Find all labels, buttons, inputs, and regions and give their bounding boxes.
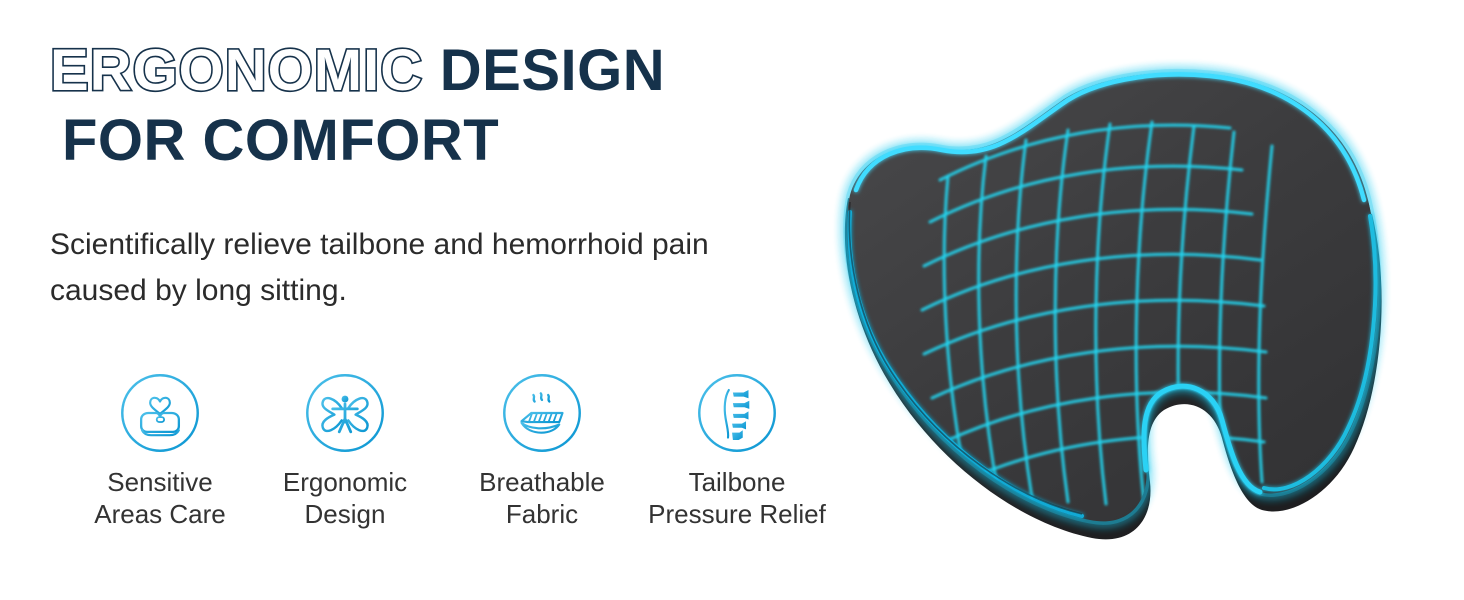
headline-line-1: ERGONOMIC DESIGN	[50, 36, 790, 106]
headline-outlined-word: ERGONOMIC	[50, 38, 423, 103]
ergonomic-person-butterfly-icon	[304, 372, 386, 454]
breathable-fabric-heat-icon	[501, 372, 583, 454]
spine-vertebrae-icon	[696, 372, 778, 454]
feature-item-breathable-fabric[interactable]: Breathable Fabric	[442, 372, 642, 530]
text-column: ERGONOMIC DESIGN FOR COMFORT Scientifica…	[0, 0, 820, 600]
feature-label: Sensitive Areas Care	[60, 466, 260, 530]
subtitle-text: Scientifically relieve tailbone and hemo…	[50, 222, 780, 314]
feature-label: Ergonomic Design	[245, 466, 445, 530]
cushion-top-surface	[847, 72, 1378, 521]
feature-item-ergonomic-design[interactable]: Ergonomic Design	[245, 372, 445, 530]
product-marketing-banner: ERGONOMIC DESIGN FOR COMFORT Scientifica…	[0, 0, 1464, 600]
headline-line-2: FOR COMFORT	[50, 106, 790, 176]
headline: ERGONOMIC DESIGN FOR COMFORT	[50, 36, 790, 176]
cushion-heart-icon	[119, 372, 201, 454]
product-image-seat-cushion	[790, 30, 1450, 580]
feature-item-sensitive-areas-care[interactable]: Sensitive Areas Care	[60, 372, 260, 530]
cushion-illustration	[790, 30, 1450, 580]
headline-solid-word: DESIGN	[440, 38, 665, 103]
feature-label: Breathable Fabric	[442, 466, 642, 530]
feature-list: Sensitive Areas Care	[40, 372, 820, 572]
